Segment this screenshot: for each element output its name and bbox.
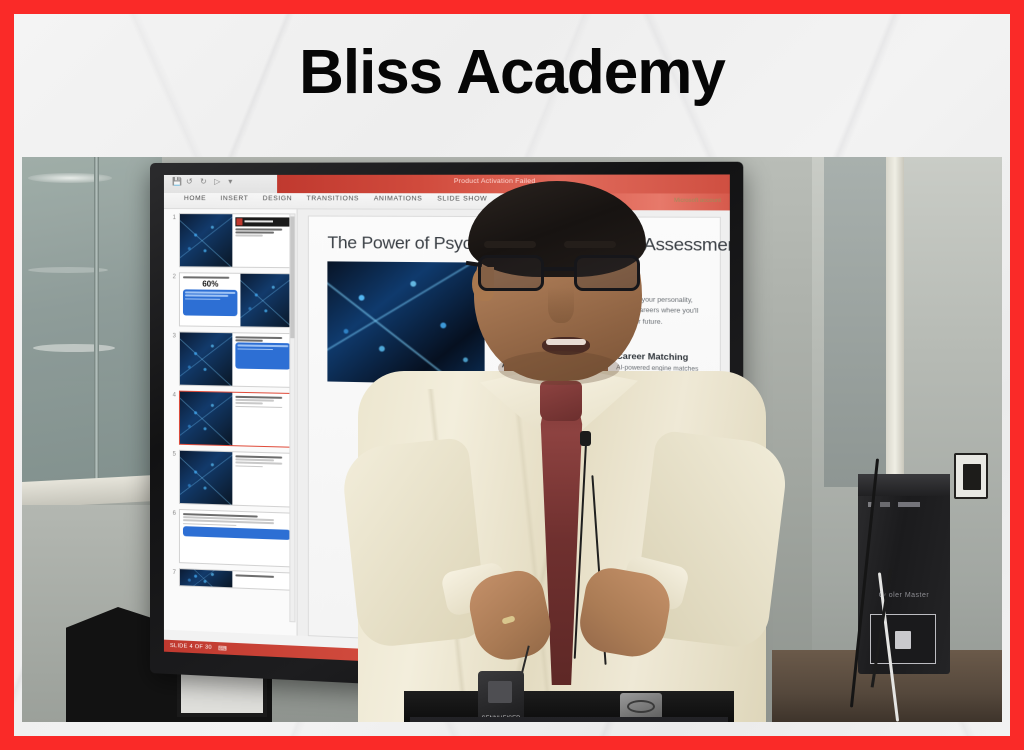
presenter-person: SENNHEISER	[352, 175, 772, 722]
text-line	[235, 336, 282, 338]
text-line	[185, 295, 228, 297]
right-wall-strip	[886, 157, 904, 487]
text-line	[235, 462, 282, 465]
text-line	[235, 574, 274, 577]
customize-qat-icon[interactable]: ▾	[228, 177, 237, 186]
text-line	[185, 292, 236, 294]
thumbnail-text	[232, 452, 294, 506]
thumbnail-text	[232, 333, 294, 387]
slide-counter: SLIDE 4 OF 30	[170, 643, 212, 651]
text-line	[183, 276, 230, 278]
list-item[interactable]: 5	[168, 449, 295, 507]
slide-number: 7	[168, 568, 176, 576]
text-line	[235, 396, 282, 399]
text-line	[235, 235, 263, 237]
slide-number: 4	[168, 390, 176, 398]
text-line	[235, 459, 274, 462]
chin-shadow	[498, 351, 620, 385]
slide-thumbnail-pane[interactable]: 1	[164, 209, 298, 636]
scrollbar-thumb[interactable]	[290, 216, 294, 338]
language-icon[interactable]: ⌨	[218, 645, 227, 652]
thumbnail-image	[241, 274, 294, 327]
text-line	[235, 228, 282, 230]
list-item[interactable]: 2 60%	[168, 272, 295, 328]
thumbnail-image	[180, 392, 232, 446]
quick-access-toolbar[interactable]: 💾 ↺ ↻ ▷ ▾	[172, 177, 237, 186]
text-line	[235, 405, 282, 408]
slide-number: 6	[168, 509, 176, 517]
slide-thumbnail-4-selected[interactable]	[179, 391, 295, 448]
text-line	[235, 399, 274, 401]
eyebrow-right	[564, 241, 616, 248]
slide-thumbnail-1[interactable]	[179, 213, 295, 268]
slide-number: 3	[168, 331, 176, 339]
text-line	[235, 340, 263, 342]
thumbnail-callout	[235, 343, 291, 370]
right-wall-panel	[824, 157, 886, 487]
slide-number: 1	[168, 213, 176, 221]
eyeglasses	[478, 255, 640, 291]
list-item[interactable]: 3	[168, 331, 295, 388]
text-line	[235, 402, 263, 404]
text-line	[235, 232, 274, 234]
wireless-transmitter: SENNHEISER	[478, 671, 524, 722]
belt-buckle	[620, 693, 662, 720]
slide-thumbnail-2[interactable]: 60%	[179, 272, 295, 328]
save-icon[interactable]: 💾	[172, 177, 181, 186]
thumbnail-image	[180, 332, 232, 385]
glass-partition	[22, 157, 162, 487]
text-line	[235, 465, 263, 467]
undo-icon[interactable]: ↺	[186, 177, 195, 186]
slide-thumbnail-7[interactable]	[179, 568, 295, 591]
slide-number: 2	[168, 272, 176, 280]
thumbnail-image	[180, 569, 232, 587]
red-border-frame: Bliss Academy Cooler Master	[0, 0, 1024, 750]
left-arm	[340, 437, 488, 649]
teachwell-logo	[235, 217, 291, 226]
slide-number: 5	[168, 449, 176, 457]
text-line	[185, 298, 221, 300]
ribbon-tab-home[interactable]: HOME	[184, 195, 206, 202]
list-item[interactable]: 4	[168, 390, 295, 447]
text-line	[237, 345, 288, 347]
light-switch-plate	[954, 453, 988, 499]
thumbnail-text: 60%	[180, 273, 241, 326]
lens-left	[478, 255, 544, 291]
slide-thumbnail-3[interactable]	[179, 331, 295, 388]
lens-right	[574, 255, 640, 291]
eyebrow-left	[484, 241, 536, 248]
thumbnail-text	[232, 393, 294, 447]
text-line	[237, 348, 273, 350]
thumbnail-callout	[183, 526, 290, 540]
thumbnail-text	[180, 510, 294, 566]
list-item[interactable]: 1	[168, 213, 295, 268]
necktie-knot	[540, 381, 582, 421]
pc-brand-label: Cooler Master	[858, 592, 950, 599]
thumbnail-text	[232, 571, 294, 590]
thumbnail-callout	[183, 290, 238, 317]
presentation-photo: Cooler Master 💾 ↺ ↻ ▷ ▾ Prod	[22, 157, 1002, 722]
ribbon-tab-insert[interactable]: INSERT	[220, 195, 248, 202]
list-item[interactable]: 7	[168, 568, 295, 591]
ribbon-tab-design[interactable]: DESIGN	[263, 195, 293, 202]
nose	[548, 287, 574, 323]
pc-front-ports	[868, 502, 926, 507]
thumbnail-text	[232, 214, 294, 267]
page-title-container: Bliss Academy	[14, 42, 1010, 104]
start-slideshow-icon[interactable]: ▷	[214, 177, 223, 186]
thumbnail-stat: 60%	[183, 280, 238, 290]
glasses-bridge	[544, 267, 574, 271]
page-title: Bliss Academy	[14, 42, 1010, 104]
redo-icon[interactable]: ↻	[200, 177, 209, 186]
glass-divider	[94, 157, 99, 487]
trousers	[410, 717, 728, 722]
list-item[interactable]: 6	[168, 509, 295, 568]
slide-thumbnail-5[interactable]	[179, 450, 295, 508]
thumbnail-image	[180, 451, 232, 505]
thumbnail-image	[180, 214, 232, 267]
thumbnail-scrollbar[interactable]	[289, 213, 295, 622]
slide-thumbnail-6[interactable]	[179, 509, 295, 568]
